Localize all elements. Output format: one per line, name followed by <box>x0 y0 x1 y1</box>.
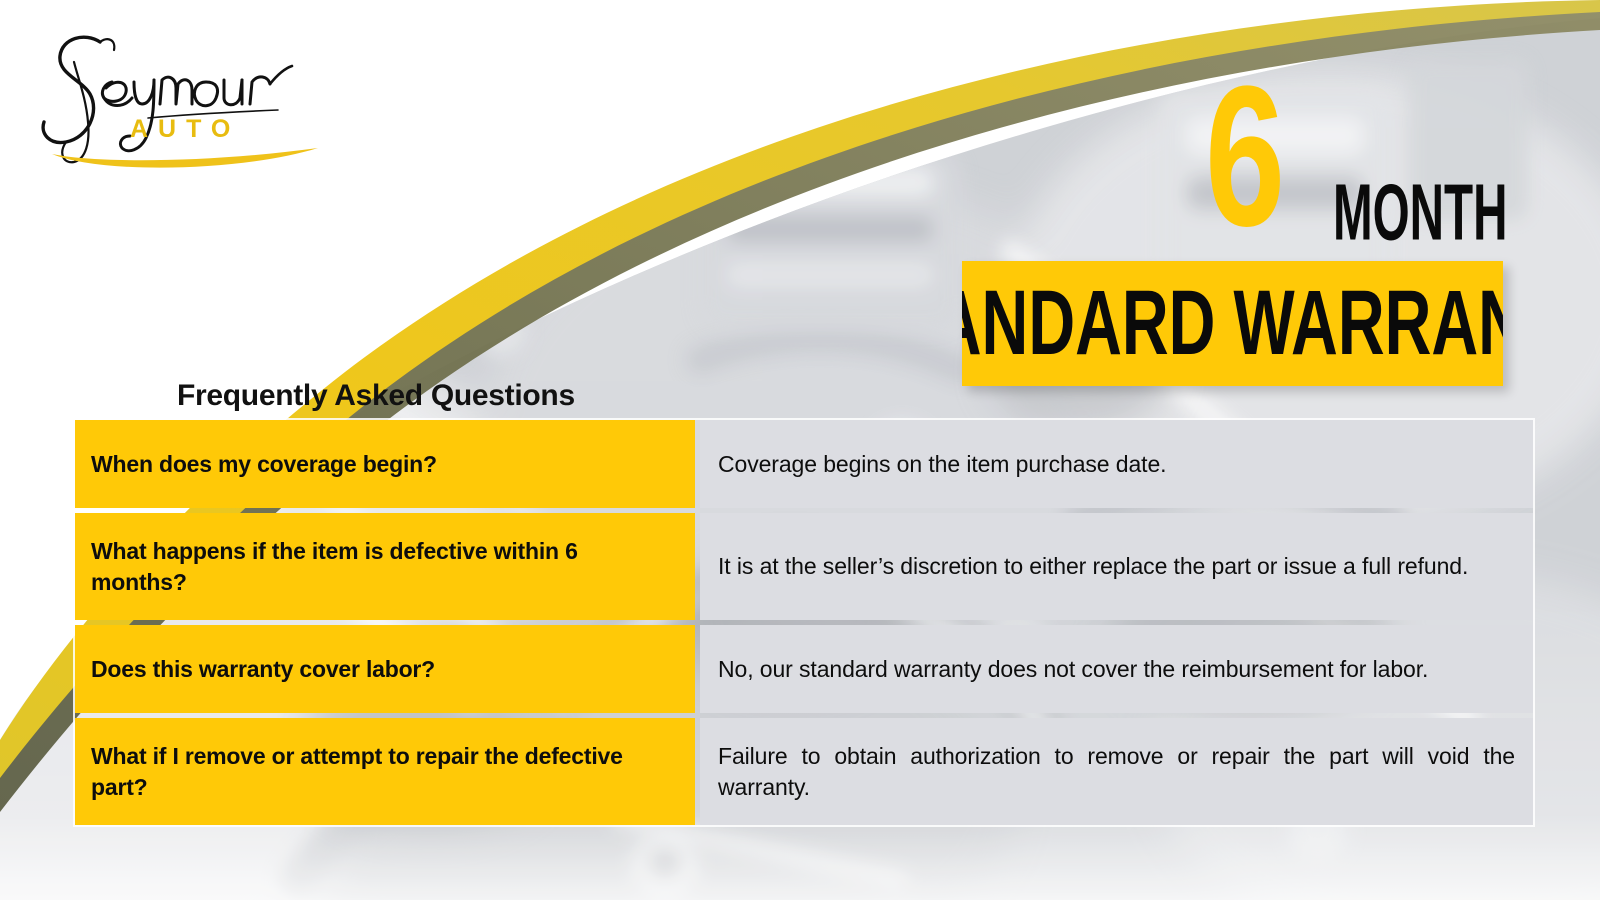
table-row: What if I remove or attempt to repair th… <box>75 718 1533 825</box>
warranty-slide: AUTO 6 MONTH STANDARD WARRANTY Frequentl… <box>0 0 1600 900</box>
faq-question-cell: When does my coverage begin? <box>75 420 695 508</box>
seymour-auto-logo: AUTO <box>30 22 330 172</box>
table-row: What happens if the item is defective wi… <box>75 513 1533 620</box>
faq-heading: Frequently Asked Questions <box>177 379 575 413</box>
warranty-banner-title: STANDARD WARRANTY <box>962 278 1503 370</box>
faq-question-cell: Does this warranty cover labor? <box>75 625 695 713</box>
faq-question-text: What happens if the item is defective wi… <box>91 536 679 598</box>
faq-answer-cell: Failure to obtain authorization to remov… <box>700 718 1533 825</box>
faq-answer-text: It is at the seller’s discretion to eith… <box>718 551 1468 582</box>
table-row: When does my coverage begin? Coverage be… <box>75 420 1533 508</box>
faq-question-cell: What happens if the item is defective wi… <box>75 513 695 620</box>
coverage-duration: 6 MONTH <box>1205 72 1525 247</box>
standard-warranty-banner: STANDARD WARRANTY <box>962 261 1503 386</box>
faq-answer-text: Failure to obtain authorization to remov… <box>718 741 1515 803</box>
table-row: Does this warranty cover labor? No, our … <box>75 625 1533 713</box>
faq-question-cell: What if I remove or attempt to repair th… <box>75 718 695 825</box>
faq-answer-cell: No, our standard warranty does not cover… <box>700 625 1533 713</box>
faq-question-text: What if I remove or attempt to repair th… <box>91 741 679 803</box>
faq-question-text: Does this warranty cover labor? <box>91 654 435 685</box>
faq-answer-cell: It is at the seller’s discretion to eith… <box>700 513 1533 620</box>
duration-unit: MONTH <box>1333 172 1508 252</box>
svg-text:AUTO: AUTO <box>130 115 240 143</box>
faq-answer-cell: Coverage begins on the item purchase dat… <box>700 420 1533 508</box>
faq-answer-text: No, our standard warranty does not cover… <box>718 654 1428 685</box>
faq-answer-text: Coverage begins on the item purchase dat… <box>718 449 1166 480</box>
duration-number: 6 <box>1205 72 1282 242</box>
faq-table: When does my coverage begin? Coverage be… <box>75 420 1533 825</box>
faq-question-text: When does my coverage begin? <box>91 449 437 480</box>
